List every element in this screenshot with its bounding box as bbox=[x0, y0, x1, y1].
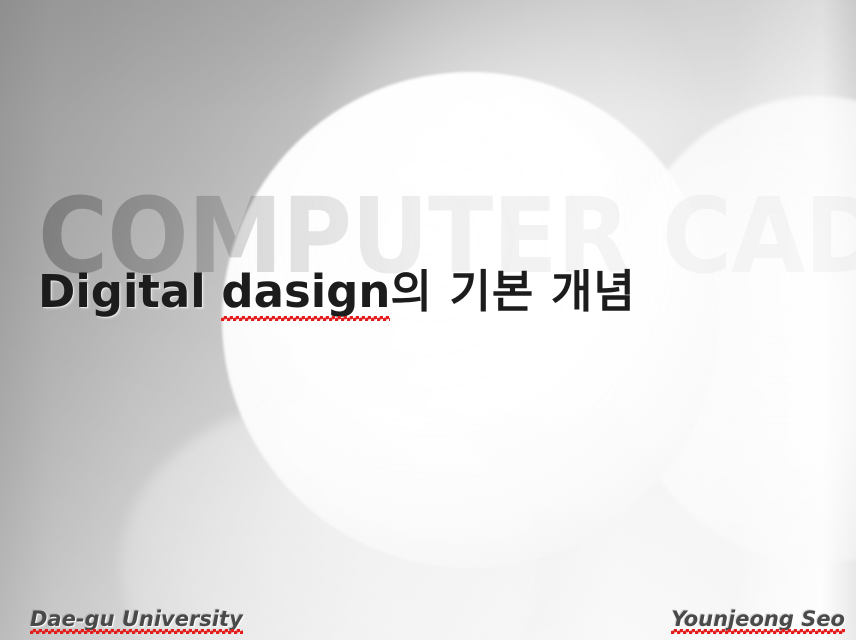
slide-title-text: Digital dasign의 기본 개념 bbox=[38, 266, 636, 318]
footer-institution[interactable]: Dae-gu University bbox=[30, 606, 243, 632]
footer-institution-label: Dae-gu University bbox=[30, 606, 243, 632]
title-segment-plain: Digital bbox=[38, 265, 221, 318]
footer-author-label: Younjeong Seo bbox=[671, 606, 845, 632]
footer-author[interactable]: Younjeong Seo bbox=[671, 606, 845, 632]
slide-title[interactable]: Digital dasign의 기본 개념 bbox=[38, 262, 636, 322]
title-segment-korean: 의 기본 개념 bbox=[390, 265, 635, 318]
title-segment-misspelled: dasign bbox=[221, 266, 390, 318]
presentation-slide: COMPUTER CAD Digital dasign의 기본 개념 Dae-g… bbox=[0, 0, 856, 640]
